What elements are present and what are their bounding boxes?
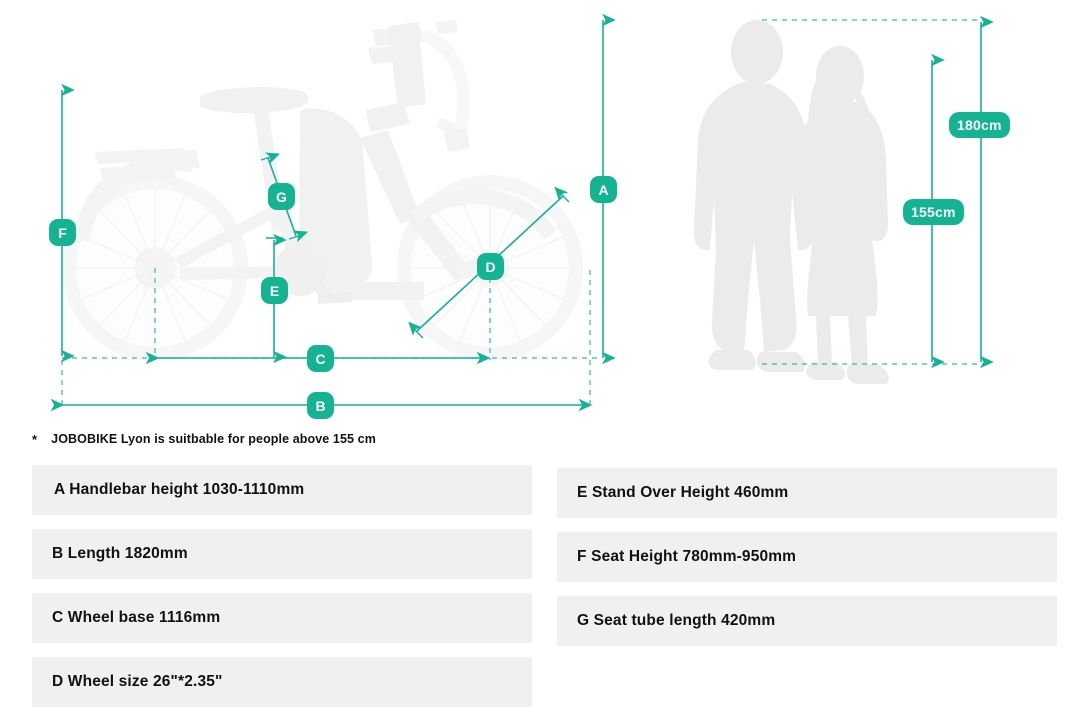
spec-label-G: G Seat tube length 420mm: [577, 612, 775, 630]
badge-E-label: E: [270, 283, 279, 299]
badge-A: A: [590, 176, 617, 203]
spec-label-B: B Length 1820mm: [52, 545, 188, 563]
badge-D: D: [477, 253, 504, 280]
badge-rider-height-min-label: 155cm: [911, 204, 956, 220]
badge-rider-height-max: 180cm: [949, 112, 1010, 138]
spec-column-left: A Handlebar height 1030-1110mm B Length …: [32, 465, 532, 721]
spec-label-C: C Wheel base 1116mm: [52, 609, 220, 627]
footnote-asterisk: *: [32, 433, 37, 446]
person-female-silhouette: [796, 46, 889, 384]
spec-row-C: C Wheel base 1116mm: [32, 593, 532, 643]
person-male-silhouette: [694, 20, 814, 372]
bike-silhouette: [62, 20, 583, 361]
badge-C-label: C: [315, 351, 325, 367]
badge-F-label: F: [58, 225, 67, 241]
badge-E: E: [261, 277, 288, 304]
badge-F: F: [49, 219, 76, 246]
footnote-text: JOBOBIKE Lyon is suitbable for people ab…: [51, 432, 376, 446]
spec-row-B: B Length 1820mm: [32, 529, 532, 579]
spec-column-right: E Stand Over Height 460mm F Seat Height …: [557, 468, 1057, 660]
spec-row-F: F Seat Height 780mm-950mm: [557, 532, 1057, 582]
spec-label-E: E Stand Over Height 460mm: [577, 484, 788, 502]
badge-rider-height-max-label: 180cm: [957, 117, 1002, 133]
rider-silhouettes: [694, 20, 889, 384]
badge-G-label: G: [276, 189, 287, 205]
badge-C: C: [307, 345, 334, 372]
badge-B: B: [307, 392, 334, 419]
spec-row-D: D Wheel size 26"*2.35": [32, 657, 532, 707]
spec-row-E: E Stand Over Height 460mm: [557, 468, 1057, 518]
badge-A-label: A: [598, 182, 608, 198]
badge-rider-height-min: 155cm: [903, 199, 964, 225]
geometry-diagram: A B C D E F G 180cm 155cm: [0, 0, 1080, 420]
badge-G: G: [268, 183, 295, 210]
spec-label-D: D Wheel size 26"*2.35": [52, 673, 223, 691]
spec-row-A: A Handlebar height 1030-1110mm: [32, 465, 532, 515]
footnote: * JOBOBIKE Lyon is suitbable for people …: [32, 429, 732, 449]
badge-D-label: D: [485, 259, 495, 275]
spec-row-G: G Seat tube length 420mm: [557, 596, 1057, 646]
spec-label-F: F Seat Height 780mm-950mm: [577, 548, 796, 566]
spec-table: A Handlebar height 1030-1110mm B Length …: [0, 465, 1080, 720]
spec-label-A: A Handlebar height 1030-1110mm: [54, 481, 304, 499]
badge-B-label: B: [315, 398, 325, 414]
